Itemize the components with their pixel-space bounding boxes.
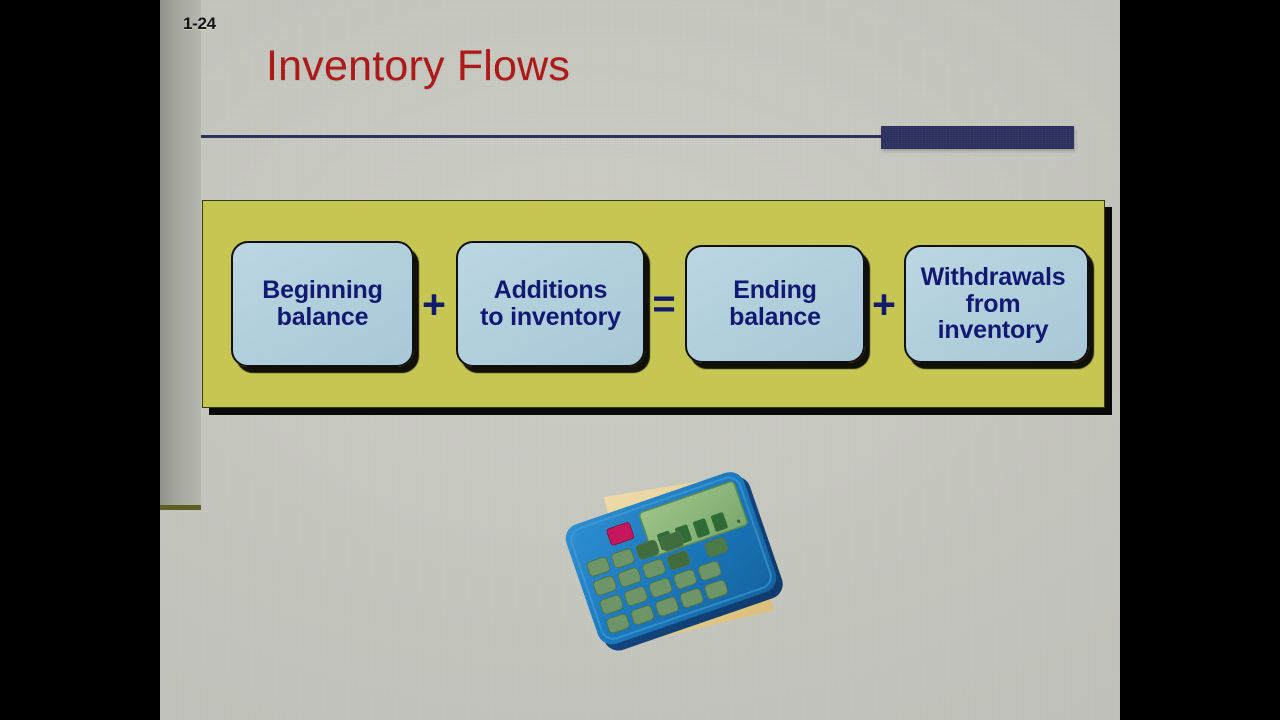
additions-line-1: Additions: [494, 276, 607, 304]
flow-box-beginning-balance[interactable]: Beginning balance: [231, 241, 414, 367]
left-accent-band-foot: [160, 505, 201, 510]
flow-box-beginning-balance-label: Beginning balance: [258, 275, 386, 333]
operator-plus-second: +: [865, 284, 903, 325]
letterbox-right: [1120, 0, 1280, 720]
presentation-slide: 1-24 Inventory Flows Beginning balance +…: [160, 0, 1120, 720]
additions-line-2: to inventory: [480, 303, 621, 331]
flow-box-ending-balance[interactable]: Ending balance: [685, 245, 865, 363]
letterbox-left: [0, 0, 160, 720]
inventory-flow-equation-panel: Beginning balance + Additions to invento…: [202, 200, 1105, 408]
title-accent-bar: [881, 126, 1074, 149]
ending-balance-line-1: Ending: [733, 276, 817, 304]
left-accent-band: [160, 0, 201, 509]
flow-box-additions-label: Additions to inventory: [476, 275, 625, 333]
ending-balance-line-2: balance: [729, 303, 821, 331]
calculator: [562, 467, 787, 656]
withdrawals-line-2: from: [966, 290, 1021, 318]
operator-plus-first: +: [414, 284, 454, 325]
equation-row: Beginning balance + Additions to invento…: [203, 201, 1104, 407]
calculator-illustration: [558, 455, 798, 660]
operator-equals: =: [645, 284, 683, 324]
flow-box-withdrawals-label: Withdrawals from inventory: [899, 262, 1087, 346]
slide-stage: 1-24 Inventory Flows Beginning balance +…: [0, 0, 1280, 720]
withdrawals-line-3: inventory: [938, 316, 1049, 344]
slide-number: 1-24: [183, 14, 216, 34]
flow-box-withdrawals-from-inventory[interactable]: Withdrawals from inventory: [904, 245, 1089, 363]
beginning-balance-line-2: balance: [277, 303, 369, 331]
beginning-balance-line-1: Beginning: [262, 276, 382, 304]
flow-box-ending-balance-label: Ending balance: [691, 275, 859, 333]
withdrawals-line-1: Withdrawals: [921, 263, 1066, 291]
flow-box-additions-to-inventory[interactable]: Additions to inventory: [456, 241, 645, 367]
page-title: Inventory Flows: [266, 42, 570, 91]
